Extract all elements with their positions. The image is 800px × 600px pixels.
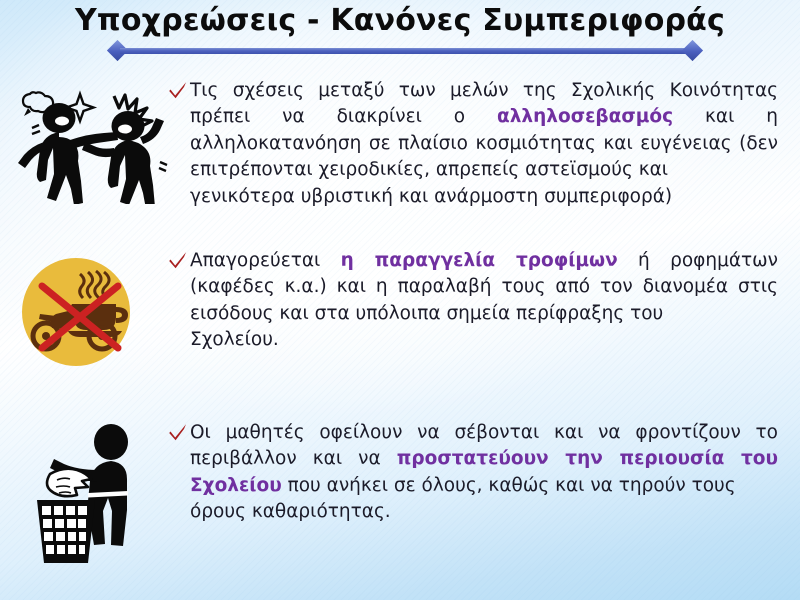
- keep-clean-litter-bin-icon: [32, 420, 156, 565]
- check-mark-icon: [168, 422, 190, 442]
- bullet-2-paragraph: Απαγορεύεται η παραγγελία τροφίμων ή ροφ…: [190, 248, 778, 354]
- bullet-row-2: Απαγορεύεται η παραγγελία τροφίμων ή ροφ…: [0, 248, 800, 373]
- b3-seg-2: που ανήκει σε όλους, καθώς και να τηρούν…: [282, 475, 736, 496]
- b2-seg-1-highlight: η παραγγελία τροφίμων: [341, 250, 618, 271]
- bullet-3-paragraph: Οι μαθητές οφείλουν να σέβονται και να φ…: [190, 420, 778, 526]
- title-divider: [110, 46, 700, 55]
- bullet-1-text-cell: Τις σχέσεις μεταξύ των μελών της Σχολική…: [168, 78, 800, 210]
- b1-seg-1-highlight: αλληλοσεβασμός: [497, 106, 673, 127]
- divider-bar: [120, 48, 690, 54]
- bullet-1-icon-cell: [0, 78, 168, 228]
- b3-seg-3: όρους καθαριότητας.: [190, 499, 778, 525]
- bullet-3-icon-cell: [0, 420, 168, 570]
- slide-canvas: Υποχρεώσεις - Κανόνες Συμπεριφοράς: [0, 0, 800, 600]
- bullet-row-3: Οι μαθητές οφείλουν να σέβονται και να φ…: [0, 420, 800, 570]
- b2-seg-0: Απαγορεύεται: [190, 250, 341, 271]
- bullet-line-1: Τις σχέσεις μεταξύ των μελών της Σχολική…: [168, 78, 778, 210]
- bullet-2-text-cell: Απαγορεύεται η παραγγελία τροφίμων ή ροφ…: [168, 248, 800, 354]
- b2-seg-3: Σχολείου.: [190, 327, 778, 353]
- check-mark-icon: [168, 250, 190, 270]
- no-food-delivery-icon: [16, 252, 136, 372]
- bullet-line-2: Απαγορεύεται η παραγγελία τροφίμων ή ροφ…: [168, 248, 778, 354]
- bullet-line-3: Οι μαθητές οφείλουν να σέβονται και να φ…: [168, 420, 778, 526]
- trash-bin: [37, 500, 95, 563]
- b1-seg-3: γενικότερα υβριστική και ανάρμοστη συμπε…: [190, 184, 778, 210]
- bullet-3-text-cell: Οι μαθητές οφείλουν να σέβονται και να φ…: [168, 420, 800, 526]
- fighting-students-icon: [8, 74, 172, 204]
- page-title: Υποχρεώσεις - Κανόνες Συμπεριφοράς: [0, 3, 800, 38]
- slide-title-block: Υποχρεώσεις - Κανόνες Συμπεριφοράς: [0, 0, 800, 66]
- bullet-1-paragraph: Τις σχέσεις μεταξύ των μελών της Σχολική…: [190, 78, 778, 210]
- divider-diamond-right-icon: [682, 40, 703, 61]
- bullet-row-1: Τις σχέσεις μεταξύ των μελών της Σχολική…: [0, 78, 800, 228]
- bullet-2-icon-cell: [0, 248, 168, 373]
- paper-piece: [47, 469, 91, 497]
